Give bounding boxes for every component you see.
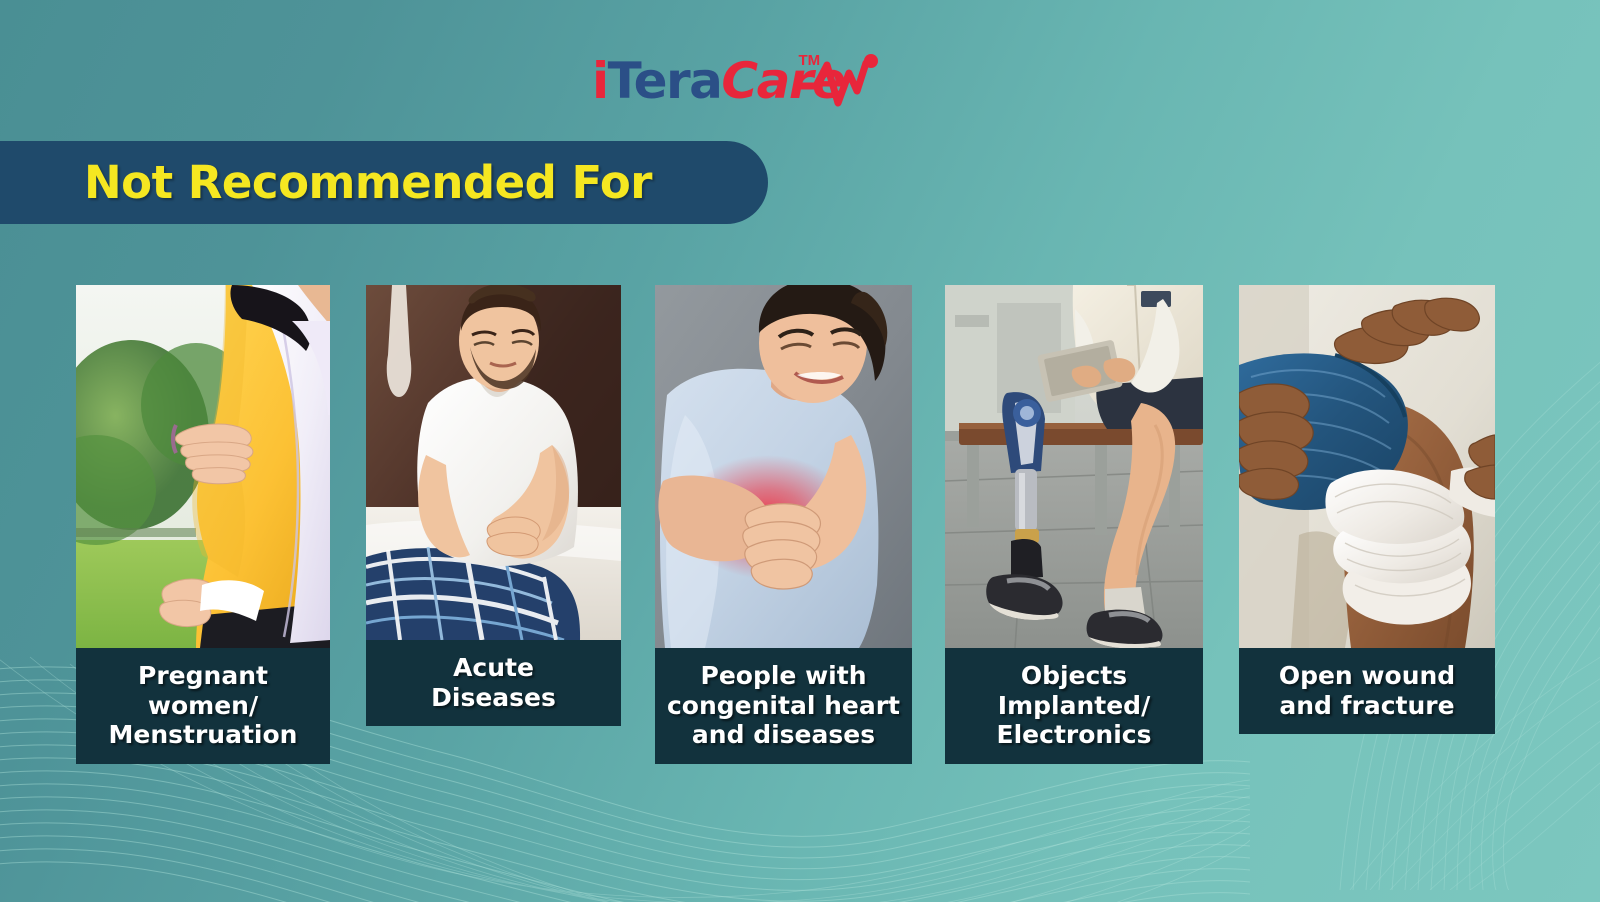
card-caption: Open wound and fracture bbox=[1239, 648, 1495, 734]
card-open-wound-and-fracture[interactable]: Open wound and fracture bbox=[1239, 285, 1495, 734]
man-clutching-chest-photo bbox=[655, 285, 912, 648]
card-caption: Pregnant women/ Menstruation bbox=[76, 648, 330, 764]
bandaged-knee-photo bbox=[1239, 285, 1495, 648]
card-grid: Pregnant women/ Menstruation bbox=[0, 0, 1600, 902]
man-with-prosthetic-leg-photo bbox=[945, 285, 1203, 648]
slide-canvas: iTeraCare TM Not Recommended For bbox=[0, 0, 1600, 902]
card-caption: Acute Diseases bbox=[366, 640, 621, 726]
pregnant-woman-photo bbox=[76, 285, 330, 648]
card-congenital-heart-and-diseases[interactable]: People with congenital heart and disease… bbox=[655, 285, 912, 764]
card-objects-implanted-electronics[interactable]: Objects Implanted/ Electronics bbox=[945, 285, 1203, 764]
card-pregnant-women-menstruation[interactable]: Pregnant women/ Menstruation bbox=[76, 285, 330, 764]
man-with-stomach-pain-photo bbox=[366, 285, 621, 640]
card-caption: Objects Implanted/ Electronics bbox=[945, 648, 1203, 764]
card-acute-diseases[interactable]: Acute Diseases bbox=[366, 285, 621, 726]
card-caption: People with congenital heart and disease… bbox=[655, 648, 912, 764]
